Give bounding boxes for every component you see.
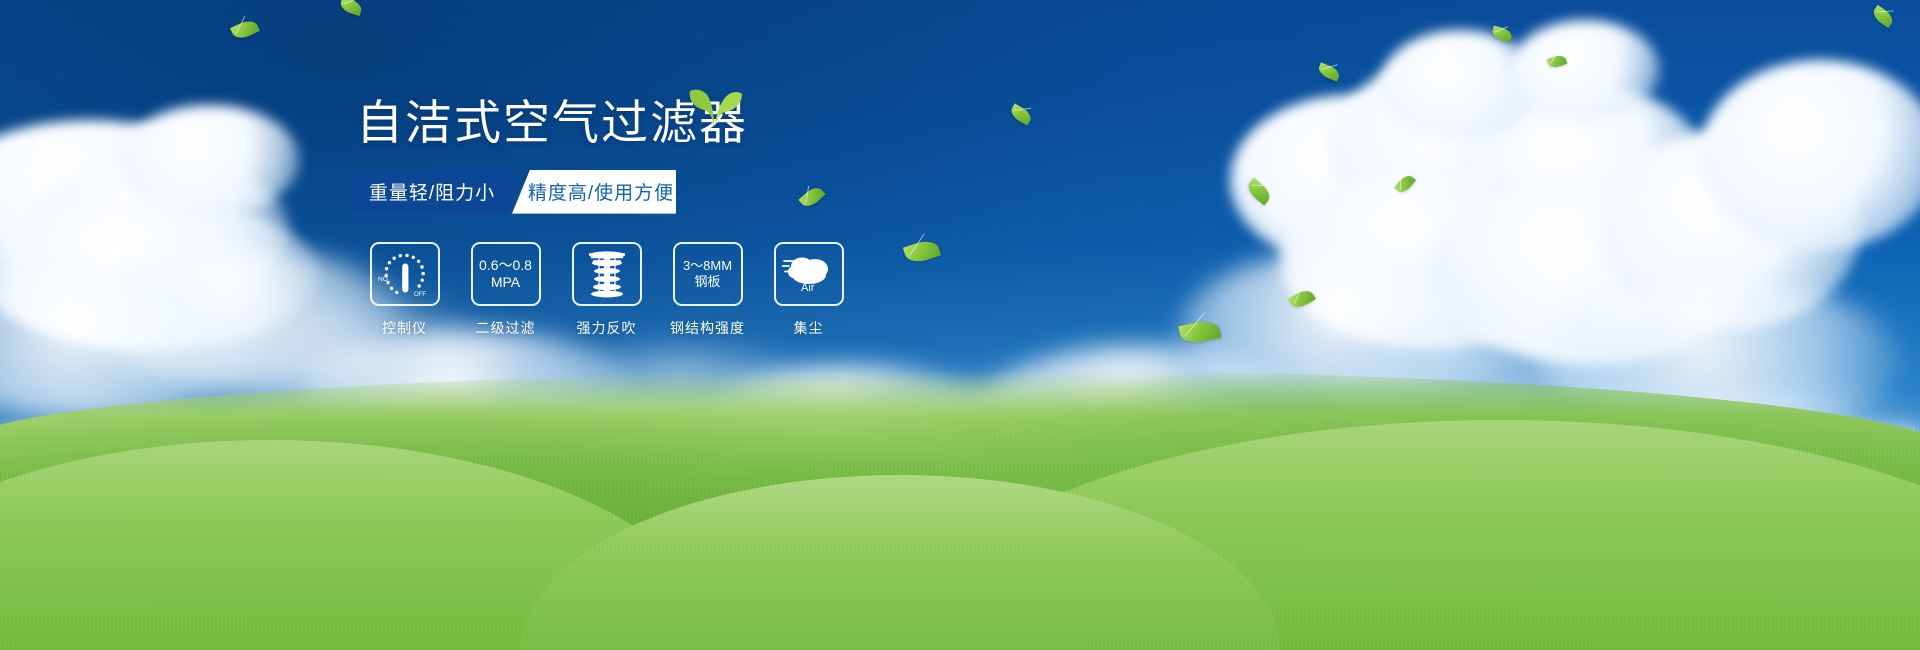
- badge-label: 精度高/使用方便: [528, 178, 674, 205]
- page-title: 自洁式空气过滤器: [356, 96, 872, 150]
- badge-label: 重量轻/阻力小: [369, 178, 495, 205]
- badge-precision-easyuse: 精度高/使用方便: [512, 170, 676, 214]
- feature-caption: 控制仪: [382, 318, 427, 338]
- feature-caption: 集尘: [794, 318, 824, 338]
- feature-caption: 强力反吹: [577, 318, 637, 338]
- pressure-text-icon: 0.6～0.8 MPA: [479, 257, 532, 290]
- feature-icon-box: NO OFF: [370, 242, 440, 306]
- product-hero-banner: 自洁式空气过滤器 重量轻/阻力小 精度高/使用方便: [0, 0, 1920, 650]
- banner-content: 自洁式空气过滤器 重量轻/阻力小 精度高/使用方便: [352, 96, 872, 338]
- sprout-leaf-icon: [684, 88, 744, 128]
- feature-caption: 钢结构强度: [670, 318, 745, 338]
- feature-item-pressure: 0.6～0.8 MPA 二级过滤: [455, 242, 556, 338]
- gauge-dial-icon: NO OFF: [376, 248, 434, 300]
- feature-item-backblow: 强力反吹: [556, 242, 657, 338]
- feature-icon-box: Air: [774, 242, 844, 306]
- feature-caption: 二级过滤: [476, 318, 536, 338]
- filter-coil-icon: [583, 248, 631, 300]
- svg-text:OFF: OFF: [414, 292, 426, 298]
- feature-icon-box: 0.6～0.8 MPA: [471, 242, 541, 306]
- grass-texture: [0, 420, 1920, 650]
- svg-text:NO: NO: [378, 276, 388, 283]
- feature-badges: 重量轻/阻力小 精度高/使用方便: [352, 170, 676, 214]
- air-cloud-icon: Air: [782, 251, 836, 297]
- feature-item-controller: NO OFF 控制仪: [354, 242, 455, 338]
- steel-plate-text-icon: 3～8MM 钢板: [683, 258, 732, 289]
- feature-icon-box: 3～8MM 钢板: [673, 242, 743, 306]
- badge-lightweight-lowresistance: 重量轻/阻力小: [352, 170, 524, 214]
- feature-icon-box: [572, 242, 642, 306]
- svg-text:Air: Air: [801, 282, 815, 294]
- feature-list: NO OFF 控制仪 0.6～0.8 MPA 二级过滤: [354, 242, 872, 338]
- feature-item-dust: Air 集尘: [758, 242, 859, 338]
- feature-item-steel: 3～8MM 钢板 钢结构强度: [657, 242, 758, 338]
